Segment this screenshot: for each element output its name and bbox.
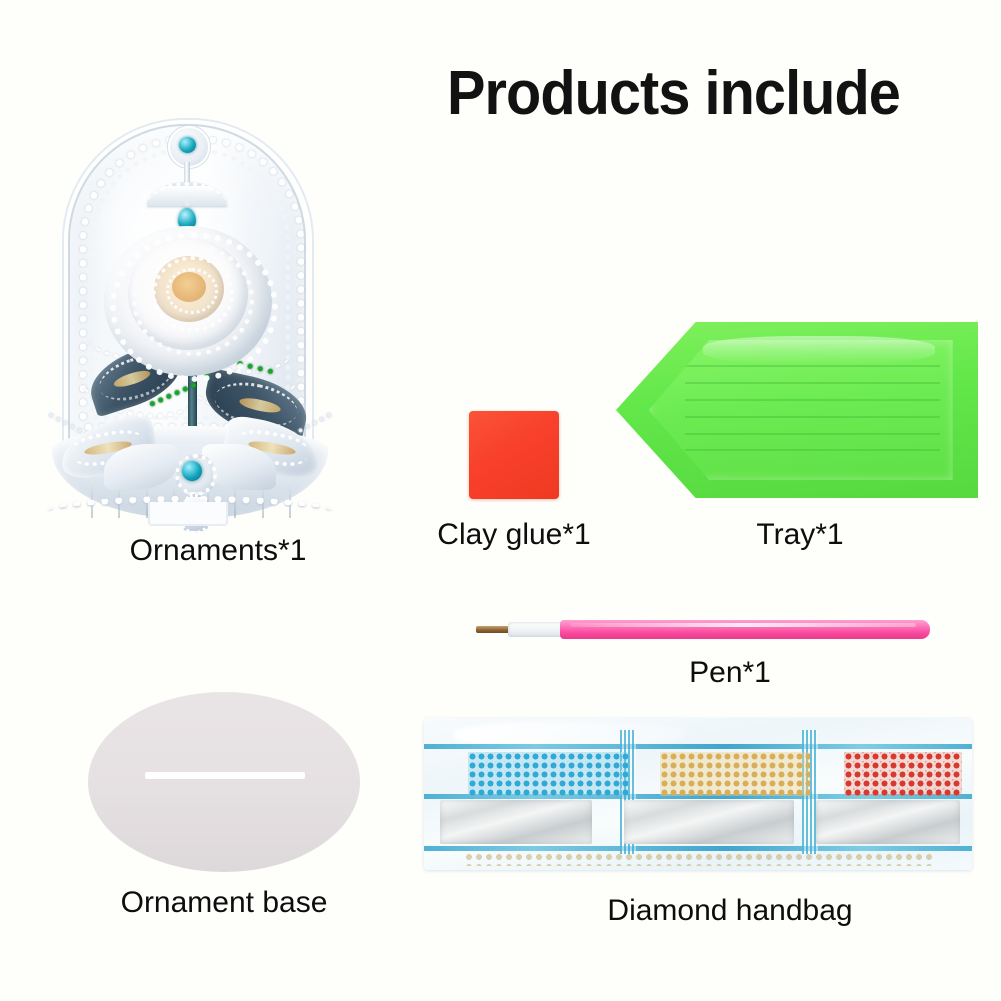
blue-drills (468, 752, 628, 796)
clay-glue-label: Clay glue*1 (384, 518, 644, 552)
ornament-base-label: Ornament base (84, 886, 364, 920)
bottom-drill-row (464, 852, 934, 866)
finial-gem-icon (179, 137, 196, 153)
gold-drills (660, 752, 810, 796)
tray-image (616, 322, 978, 498)
pen-gloss-highlight (570, 623, 916, 627)
ornament-insert-tab (148, 502, 228, 526)
product-contents-infographic: Products include (0, 0, 1001, 1001)
diamond-handbag-image (424, 718, 972, 870)
bow-center-gem-icon (182, 461, 202, 481)
foil-strip (440, 800, 592, 844)
tray-label: Tray*1 (690, 518, 910, 552)
pen-image (470, 614, 940, 646)
pen-ferrule (508, 622, 566, 637)
tray-highlight (703, 336, 935, 364)
foil-strip (816, 800, 960, 844)
foil-strip (624, 800, 794, 844)
ornament-base-image (88, 692, 360, 872)
red-drills (844, 752, 962, 796)
white-rose-icon (104, 212, 272, 382)
ornament-base-slot (145, 772, 305, 779)
rose-pearl-ring (166, 268, 218, 314)
ornaments-label: Ornaments*1 (48, 534, 388, 568)
clay-glue-image (469, 411, 559, 499)
diamond-handbag-label: Diamond handbag (570, 894, 890, 928)
ornaments-image (28, 62, 348, 512)
pen-label: Pen*1 (630, 656, 830, 690)
bag-clear-film (424, 718, 972, 870)
page-title: Products include (447, 58, 900, 129)
